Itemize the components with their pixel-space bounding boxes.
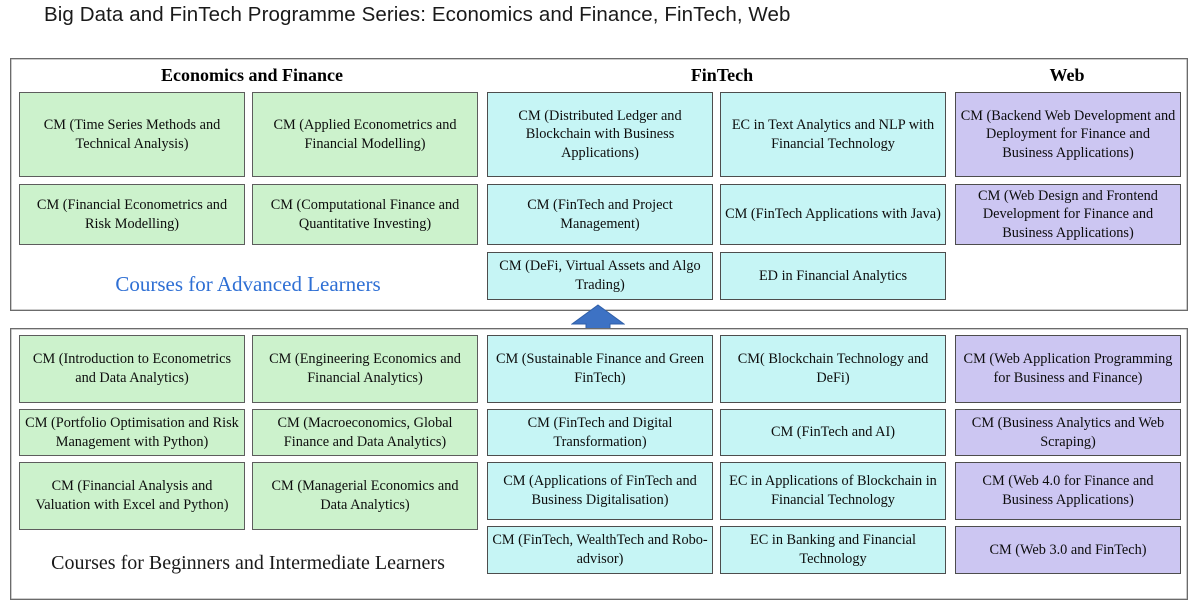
beginner-intermediate-caption: Courses for Beginners and Intermediate L…	[14, 552, 482, 575]
course-card-portfolio-optimisation[interactable]: CM (Portfolio Optimisation and Risk Mana…	[19, 409, 245, 456]
course-card-applications-blockchain-financial-technology[interactable]: EC in Applications of Blockchain in Fina…	[720, 462, 946, 520]
course-card-financial-econometrics[interactable]: CM (Financial Econometrics and Risk Mode…	[19, 184, 245, 245]
course-card-applied-econometrics[interactable]: CM (Applied Econometrics and Financial M…	[252, 92, 478, 177]
course-card-fintech-applications-java[interactable]: CM (FinTech Applications with Java)	[720, 184, 946, 245]
course-card-intro-econometrics[interactable]: CM (Introduction to Econometrics and Dat…	[19, 335, 245, 403]
course-card-financial-analysis-valuation[interactable]: CM (Financial Analysis and Valuation wit…	[19, 462, 245, 530]
course-card-web-application-programming[interactable]: CM (Web Application Programming for Busi…	[955, 335, 1181, 403]
course-card-time-series-methods[interactable]: CM (Time Series Methods and Technical An…	[19, 92, 245, 177]
course-card-computational-finance[interactable]: CM (Computational Finance and Quantitati…	[252, 184, 478, 245]
column-header-web: Web	[953, 61, 1181, 89]
course-card-business-analytics-web-scraping[interactable]: CM (Business Analytics and Web Scraping)	[955, 409, 1181, 456]
course-card-backend-web-development[interactable]: CM (Backend Web Development and Deployme…	[955, 92, 1181, 177]
course-card-text-analytics-nlp[interactable]: EC in Text Analytics and NLP with Financ…	[720, 92, 946, 177]
course-card-fintech-project-management[interactable]: CM (FinTech and Project Management)	[487, 184, 713, 245]
course-card-web-3-fintech[interactable]: CM (Web 3.0 and FinTech)	[955, 526, 1181, 574]
course-card-blockchain-technology-defi[interactable]: CM( Blockchain Technology and DeFi)	[720, 335, 946, 403]
course-card-macroeconomics-global-finance[interactable]: CM (Macroeconomics, Global Finance and D…	[252, 409, 478, 456]
course-card-web-4-finance-business[interactable]: CM (Web 4.0 for Finance and Business App…	[955, 462, 1181, 520]
course-card-web-design-frontend[interactable]: CM (Web Design and Frontend Development …	[955, 184, 1181, 245]
course-card-applications-fintech-business-digitalisation[interactable]: CM (Applications of FinTech and Business…	[487, 462, 713, 520]
page-title: Big Data and FinTech Programme Series: E…	[44, 3, 1144, 27]
course-card-ed-financial-analytics[interactable]: ED in Financial Analytics	[720, 252, 946, 300]
course-card-distributed-ledger-blockchain[interactable]: CM (Distributed Ledger and Blockchain wi…	[487, 92, 713, 177]
course-card-fintech-ai[interactable]: CM (FinTech and AI)	[720, 409, 946, 456]
course-card-defi-virtual-assets[interactable]: CM (DeFi, Virtual Assets and Algo Tradin…	[487, 252, 713, 300]
course-card-managerial-economics[interactable]: CM (Managerial Economics and Data Analyt…	[252, 462, 478, 530]
diagram-canvas: Big Data and FinTech Programme Series: E…	[0, 0, 1200, 614]
course-card-fintech-digital-transformation[interactable]: CM (FinTech and Digital Transformation)	[487, 409, 713, 456]
advanced-learners-caption: Courses for Advanced Learners	[16, 272, 480, 297]
course-card-banking-financial-technology[interactable]: EC in Banking and Financial Technology	[720, 526, 946, 574]
course-card-sustainable-finance-green-fintech[interactable]: CM (Sustainable Finance and Green FinTec…	[487, 335, 713, 403]
column-header-fintech: FinTech	[493, 61, 951, 89]
course-card-engineering-economics[interactable]: CM (Engineering Economics and Financial …	[252, 335, 478, 403]
course-card-fintech-wealthtech-robo-advisor[interactable]: CM (FinTech, WealthTech and Robo-advisor…	[487, 526, 713, 574]
column-header-economics-and-finance: Economics and Finance	[17, 61, 487, 89]
